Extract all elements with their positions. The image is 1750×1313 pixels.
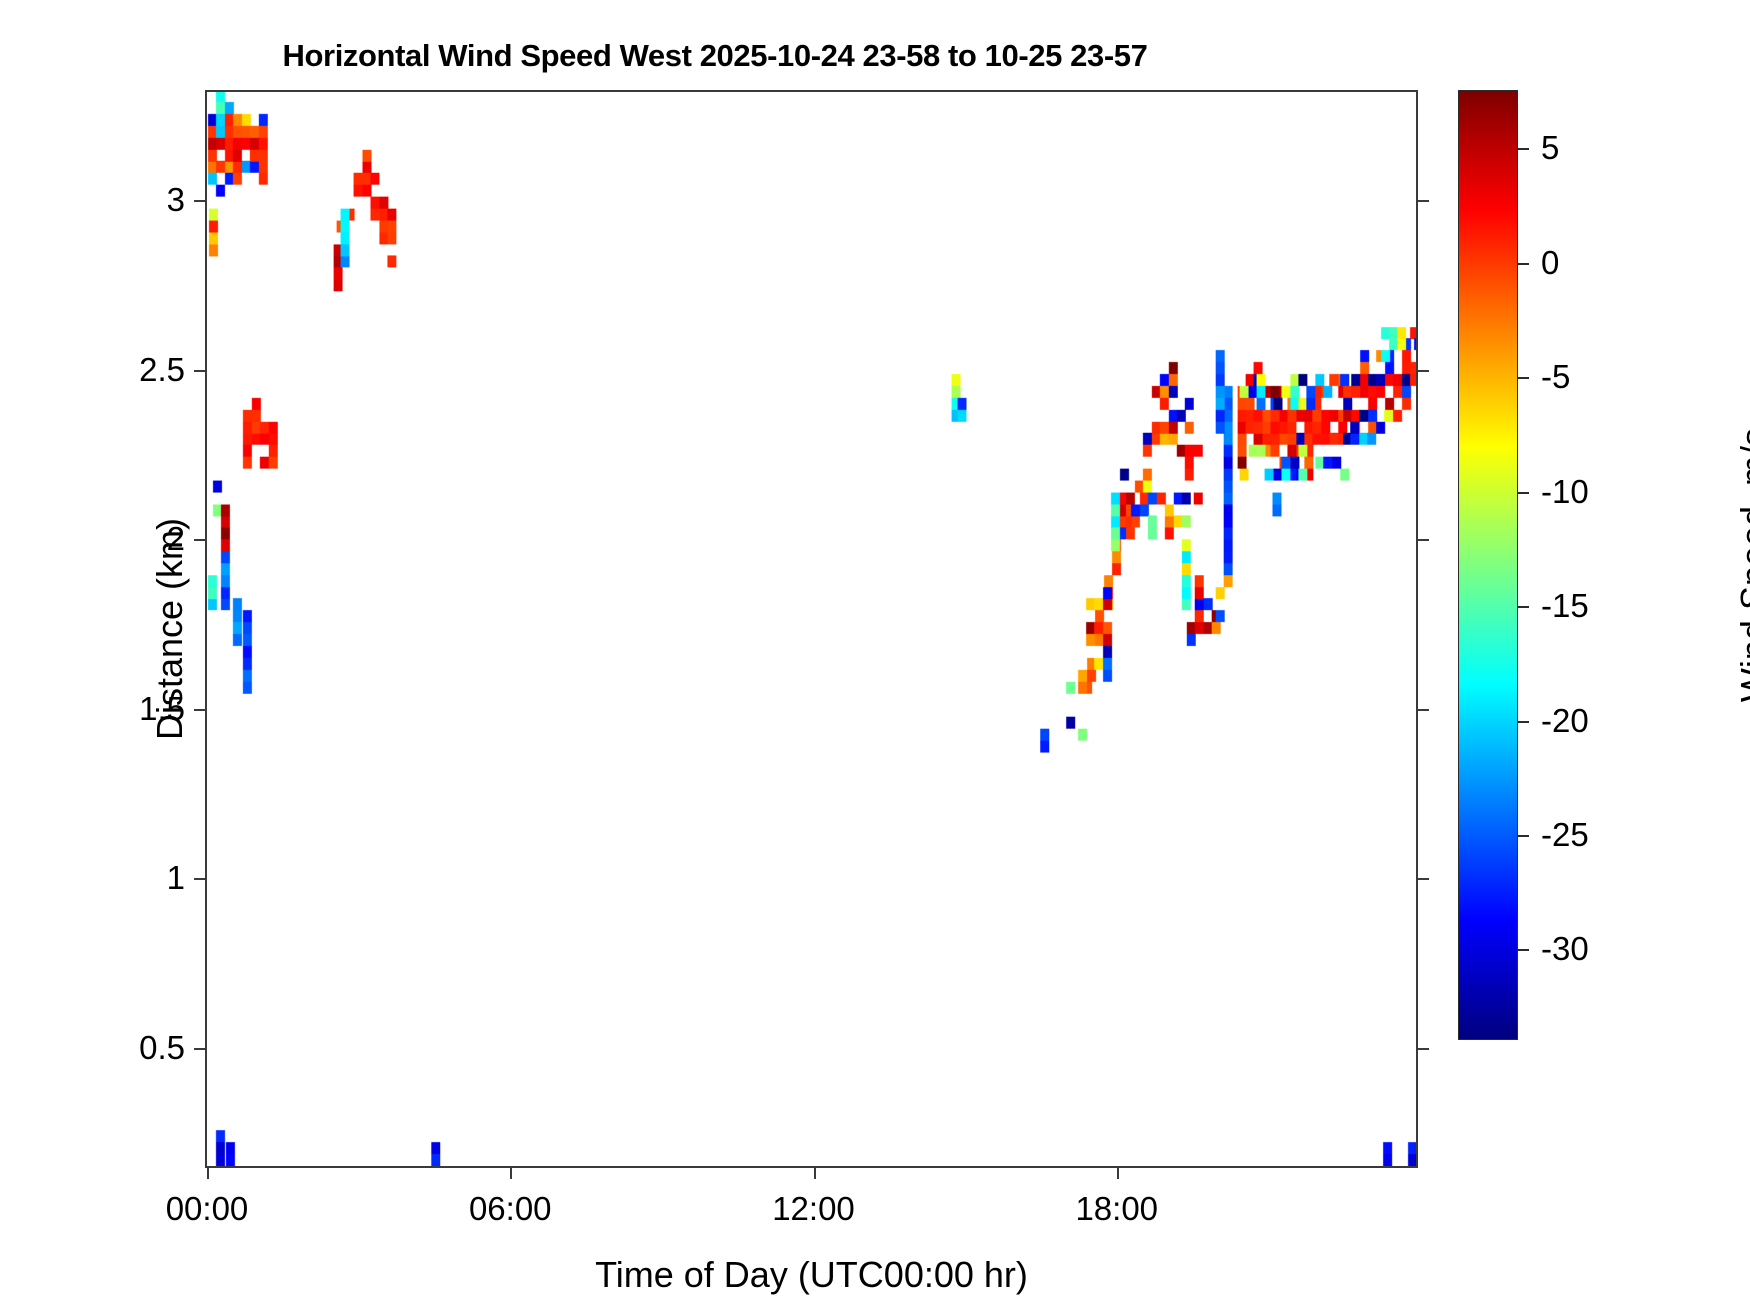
heatmap-data-layer	[207, 92, 1416, 1166]
colorbar-tick-label: -20	[1541, 702, 1589, 740]
y-tick-label: 1.5	[139, 690, 185, 728]
colorbar-tick-label: -30	[1541, 930, 1589, 968]
x-axis-label: Time of Day (UTC00:00 hr)	[595, 1254, 1028, 1296]
y-tick-mark-right	[1416, 539, 1429, 541]
plot-axes: Distance (km) Time of Day (UTC00:00 hr) …	[205, 90, 1418, 1168]
x-tick-mark	[510, 1166, 512, 1179]
y-tick-mark-right	[1416, 1048, 1429, 1050]
y-tick-mark-right	[1416, 370, 1429, 372]
colorbar-tick-mark	[1517, 263, 1529, 265]
colorbar: Wind Speed, m/s 50-5-10-15-20-25-30	[1458, 90, 1518, 1040]
colorbar-tick-mark	[1517, 377, 1529, 379]
colorbar-tick-label: -15	[1541, 587, 1589, 625]
colorbar-tick-mark	[1517, 949, 1529, 951]
colorbar-tick-label: 5	[1541, 129, 1559, 167]
colorbar-gradient	[1459, 91, 1517, 1039]
chart-title: Horizontal Wind Speed West 2025-10-24 23…	[0, 38, 1430, 74]
colorbar-tick-mark	[1517, 835, 1529, 837]
y-tick-label: 0.5	[139, 1029, 185, 1067]
colorbar-tick-label: -10	[1541, 473, 1589, 511]
x-tick-mark	[814, 1166, 816, 1179]
y-tick-label: 2.5	[139, 351, 185, 389]
y-tick-mark	[194, 1048, 207, 1050]
y-tick-label: 3	[167, 181, 185, 219]
colorbar-tick-label: -25	[1541, 816, 1589, 854]
colorbar-tick-mark	[1517, 148, 1529, 150]
colorbar-tick-mark	[1517, 721, 1529, 723]
y-tick-mark	[194, 539, 207, 541]
y-tick-mark	[194, 709, 207, 711]
y-tick-mark	[194, 370, 207, 372]
x-tick-label: 12:00	[772, 1190, 855, 1228]
x-tick-label: 00:00	[166, 1190, 249, 1228]
y-tick-mark-right	[1416, 878, 1429, 880]
y-tick-label: 2	[167, 520, 185, 558]
colorbar-label: Wind Speed, m/s	[1733, 428, 1750, 702]
x-tick-label: 18:00	[1075, 1190, 1158, 1228]
colorbar-tick-label: -5	[1541, 358, 1570, 396]
x-tick-mark	[207, 1166, 209, 1179]
colorbar-tick-mark	[1517, 606, 1529, 608]
y-tick-mark	[194, 200, 207, 202]
figure-canvas: Horizontal Wind Speed West 2025-10-24 23…	[0, 0, 1750, 1313]
y-tick-mark-right	[1416, 200, 1429, 202]
y-tick-mark	[194, 878, 207, 880]
colorbar-tick-mark	[1517, 492, 1529, 494]
colorbar-tick-label: 0	[1541, 244, 1559, 282]
y-tick-mark-right	[1416, 709, 1429, 711]
x-tick-label: 06:00	[469, 1190, 552, 1228]
x-tick-mark	[1117, 1166, 1119, 1179]
y-tick-label: 1	[167, 859, 185, 897]
